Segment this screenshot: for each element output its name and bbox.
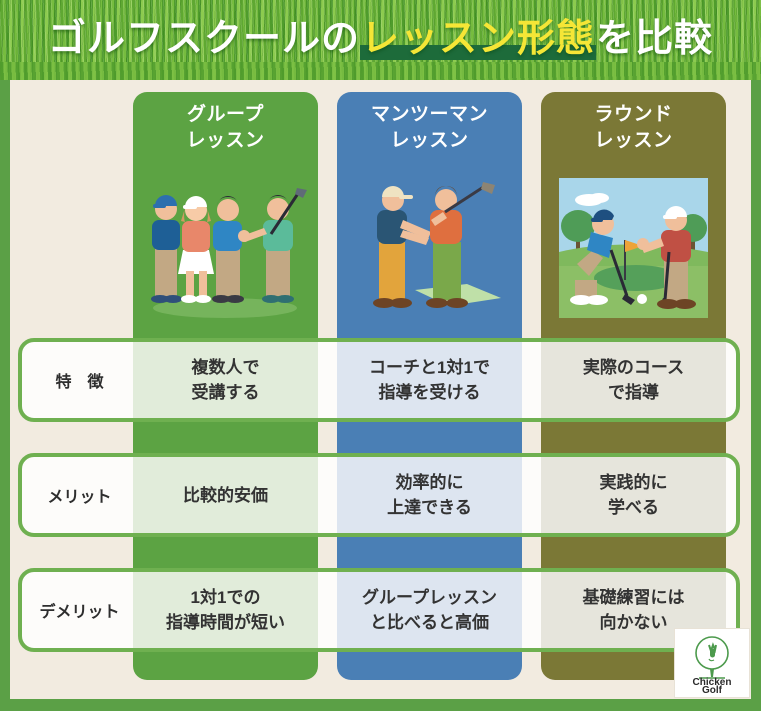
header-banner: ゴルフスクールのレッスン形態を比較: [0, 0, 761, 80]
cell-features-private-line1: コーチと1対1で: [369, 355, 490, 380]
table-row: 特 徴 複数人で 受講する コーチと1対1で 指導を受ける 実際のコース で指導: [18, 338, 740, 422]
cell-features-group-line2: 受講する: [192, 380, 260, 405]
round-lesson-illustration: [541, 168, 726, 328]
cell-demerit-private: グループレッスン と比べると高価: [337, 572, 522, 648]
column-header-private-line2: レッスン: [371, 128, 488, 154]
cell-features-group: 複数人で 受講する: [133, 342, 318, 418]
cell-merit-round-line2: 学べる: [600, 495, 668, 520]
column-header-round-line1: ラウンド: [594, 102, 672, 128]
table-row: デメリット 1対1での 指導時間が短い グループレッスン と比べると高価 基礎練…: [18, 568, 740, 652]
cell-demerit-group: 1対1での 指導時間が短い: [133, 572, 318, 648]
cell-demerit-round-line2: 向かない: [583, 610, 685, 635]
column-header-group-line2: レッスン: [186, 128, 264, 154]
row-label-features: 特 徴: [22, 342, 137, 418]
chicken-tee-icon: Chicken Golf: [679, 633, 745, 693]
cell-merit-private-line2: 上達できる: [387, 495, 472, 520]
cell-merit-round: 実践的に 学べる: [541, 457, 726, 533]
column-header-private-line1: マンツーマン: [371, 102, 488, 128]
cell-features-round: 実際のコース で指導: [541, 342, 726, 418]
private-lesson-illustration: [337, 168, 522, 328]
row-label-merit: メリット: [22, 457, 137, 533]
cell-features-private-line2: 指導を受ける: [369, 380, 490, 405]
cell-features-round-line1: 実際のコース: [583, 355, 684, 380]
column-header-round-line2: レッスン: [594, 128, 672, 154]
column-header-private: マンツーマン レッスン: [337, 92, 522, 164]
column-header-group-line1: グループ: [186, 102, 264, 128]
cell-merit-private-line1: 効率的に: [387, 470, 472, 495]
frame-left-border: [0, 0, 10, 711]
logo-line-2: Golf: [702, 685, 723, 693]
row-label-demerit: デメリット: [22, 572, 137, 648]
title-part-1: ゴルフスクールの: [48, 18, 360, 60]
cell-demerit-private-line2: と比べると高価: [362, 610, 497, 635]
title-highlight: レッスン形態: [360, 18, 596, 60]
cell-demerit-private-line1: グループレッスン: [362, 585, 497, 610]
group-lesson-illustration: [133, 168, 318, 328]
infographic-root: ゴルフスクールのレッスン形態を比較 グループ レッスン マンツーマン レッスン …: [0, 0, 761, 711]
cell-merit-group: 比較的安価: [133, 457, 318, 533]
cell-demerit-round-line1: 基礎練習には: [583, 585, 685, 610]
frame-right-border: [751, 0, 761, 711]
table-row: メリット 比較的安価 効率的に 上達できる 実践的に 学べる: [18, 453, 740, 537]
cell-demerit-group-line2: 指導時間が短い: [166, 610, 285, 635]
column-header-round: ラウンド レッスン: [541, 92, 726, 164]
cell-merit-round-line1: 実践的に: [600, 470, 668, 495]
cell-features-private: コーチと1対1で 指導を受ける: [337, 342, 522, 418]
cell-features-round-line2: で指導: [583, 380, 684, 405]
frame-bottom-border: [0, 699, 761, 711]
cell-merit-group-line1: 比較的安価: [183, 483, 268, 508]
brand-logo: Chicken Golf: [675, 629, 749, 697]
cell-features-group-line1: 複数人で: [192, 355, 260, 380]
cell-merit-private: 効率的に 上達できる: [337, 457, 522, 533]
page-title: ゴルフスクールのレッスン形態を比較: [0, 13, 761, 65]
title-part-2: を比較: [596, 18, 713, 60]
cell-demerit-group-line1: 1対1での: [166, 585, 285, 610]
column-header-group: グループ レッスン: [133, 92, 318, 164]
